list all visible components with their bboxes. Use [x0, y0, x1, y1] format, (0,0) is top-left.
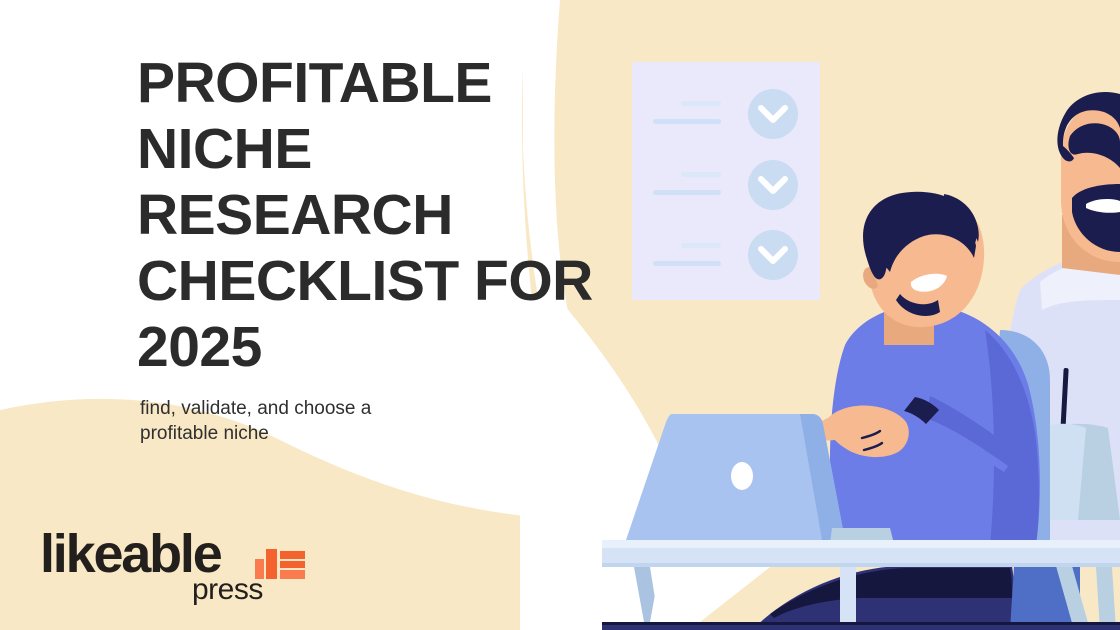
- desk-leg-mid: [840, 567, 856, 630]
- under-desk-white-2: [650, 567, 770, 622]
- desk-leg-right: [1096, 567, 1116, 630]
- floor-strip-line: [602, 622, 1120, 625]
- logo-bar-5: [280, 570, 305, 579]
- checklist-line-long-1: [653, 119, 721, 124]
- checklist-line-long-2: [653, 190, 721, 195]
- checklist-line-short-2: [681, 172, 721, 177]
- checklist-line-long-3: [653, 261, 721, 266]
- logo-bar-2: [266, 549, 277, 579]
- logo-bar-3: [280, 551, 305, 559]
- checklist-document: [632, 62, 820, 300]
- logo-bar-1: [255, 559, 264, 579]
- laptop-logo: [731, 462, 753, 490]
- page-title: Profitable Niche Research Checklist for …: [137, 50, 637, 380]
- checklist-line-short-1: [681, 101, 721, 106]
- desk-top-front-highlight: [602, 540, 1120, 548]
- brand-logo[interactable]: likeable press: [40, 527, 330, 617]
- logo-bar-4: [280, 561, 305, 568]
- page-subtitle: find, validate, and choose a profitable …: [140, 396, 470, 446]
- bar-chart-book-icon: [255, 545, 305, 579]
- checklist-chip-2: [748, 160, 798, 210]
- logo-submark: press: [192, 575, 263, 605]
- checklist-line-short-3: [681, 243, 721, 248]
- desk-top-front-shadow: [602, 563, 1120, 567]
- poster-canvas: Profitable Niche Research Checklist for …: [0, 0, 1120, 630]
- checklist-chip-1: [748, 89, 798, 139]
- checklist-chip-3: [748, 230, 798, 280]
- hero-text-block: Profitable Niche Research Checklist for …: [137, 50, 637, 446]
